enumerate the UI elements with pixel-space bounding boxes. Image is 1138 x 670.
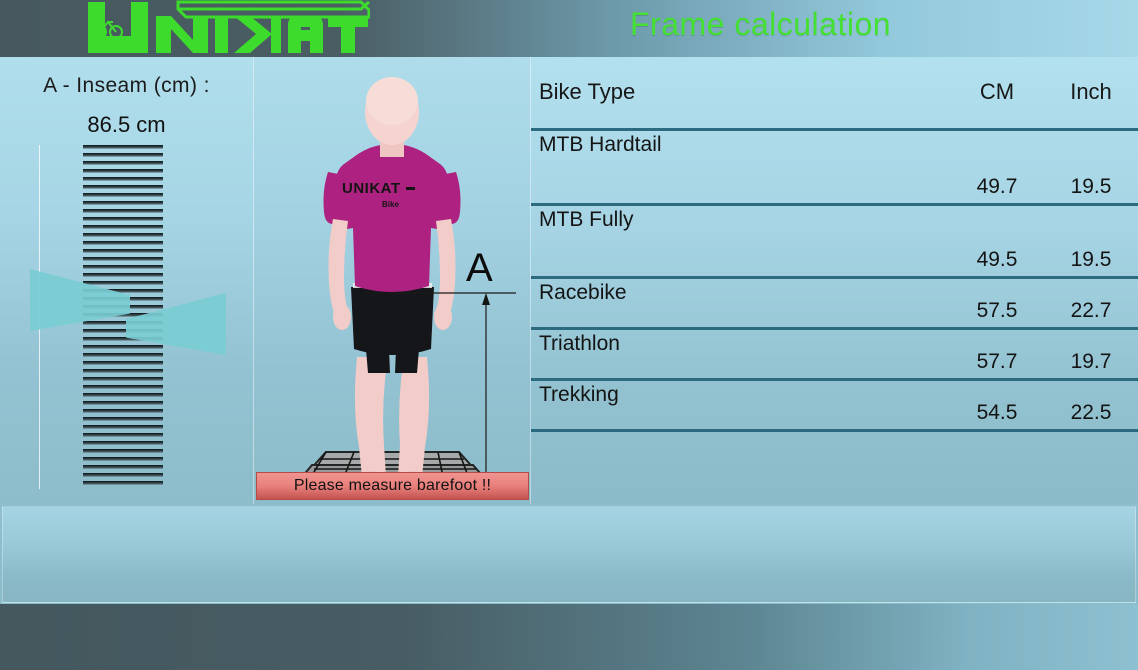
- cell-bike-type: Racebike: [531, 277, 951, 328]
- cell-bike-type: Trekking: [531, 379, 951, 430]
- cell-bike-type: MTB Hardtail: [531, 129, 951, 204]
- bike-size-table: Bike Type CM Inch MTB Hardtail 49.7 19.5…: [531, 57, 1138, 432]
- lower-empty-panel: [2, 506, 1136, 603]
- svg-text:Bike: Bike: [382, 200, 399, 209]
- cell-inch: 19.5: [1043, 129, 1138, 204]
- cell-cm: 49.5: [951, 204, 1043, 277]
- cell-inch: 19.7: [1043, 328, 1138, 379]
- page-title: Frame calculation: [630, 6, 891, 43]
- cell-bike-type: MTB Fully: [531, 204, 951, 277]
- cell-inch: 22.7: [1043, 277, 1138, 328]
- column-header-cm: CM: [951, 57, 1043, 129]
- cell-inch: 22.5: [1043, 379, 1138, 430]
- cell-inch: 19.5: [1043, 204, 1138, 277]
- table-row[interactable]: Racebike 57.5 22.7: [531, 277, 1138, 328]
- unikat-logo: [78, 0, 370, 56]
- table-header-row: Bike Type CM Inch: [531, 57, 1138, 129]
- table-row[interactable]: Triathlon 57.7 19.7: [531, 328, 1138, 379]
- column-header-bike-type: Bike Type: [531, 57, 951, 129]
- app-header: Frame calculation: [0, 0, 1138, 57]
- column-header-inch: Inch: [1043, 57, 1138, 129]
- inseam-label: A - Inseam (cm) :: [0, 74, 253, 98]
- table-row[interactable]: MTB Hardtail 49.7 19.5: [531, 129, 1138, 204]
- table-row[interactable]: MTB Fully 49.5 19.5: [531, 204, 1138, 277]
- inseam-value: 86.5 cm: [0, 112, 253, 138]
- cell-cm: 54.5: [951, 379, 1043, 430]
- bike-size-table-panel: Bike Type CM Inch MTB Hardtail 49.7 19.5…: [530, 57, 1138, 504]
- svg-text:UNIKAT: UNIKAT: [342, 180, 401, 197]
- bottom-toolbar: [0, 604, 1138, 670]
- cell-cm: 57.7: [951, 328, 1043, 379]
- barefoot-warning-banner: Please measure barefoot !!: [256, 472, 529, 500]
- table-row[interactable]: Trekking 54.5 22.5: [531, 379, 1138, 430]
- barefoot-warning-text: Please measure barefoot !!: [294, 477, 491, 495]
- inseam-panel: A - Inseam (cm) : 86.5 cm: [0, 57, 253, 504]
- dimension-label-a: A: [466, 248, 493, 288]
- cell-bike-type: Triathlon: [531, 328, 951, 379]
- cell-cm: 49.7: [951, 129, 1043, 204]
- cell-cm: 57.5: [951, 277, 1043, 328]
- frame-calculation-app: Frame calculation A - Inseam (cm) : 86.5…: [0, 0, 1138, 670]
